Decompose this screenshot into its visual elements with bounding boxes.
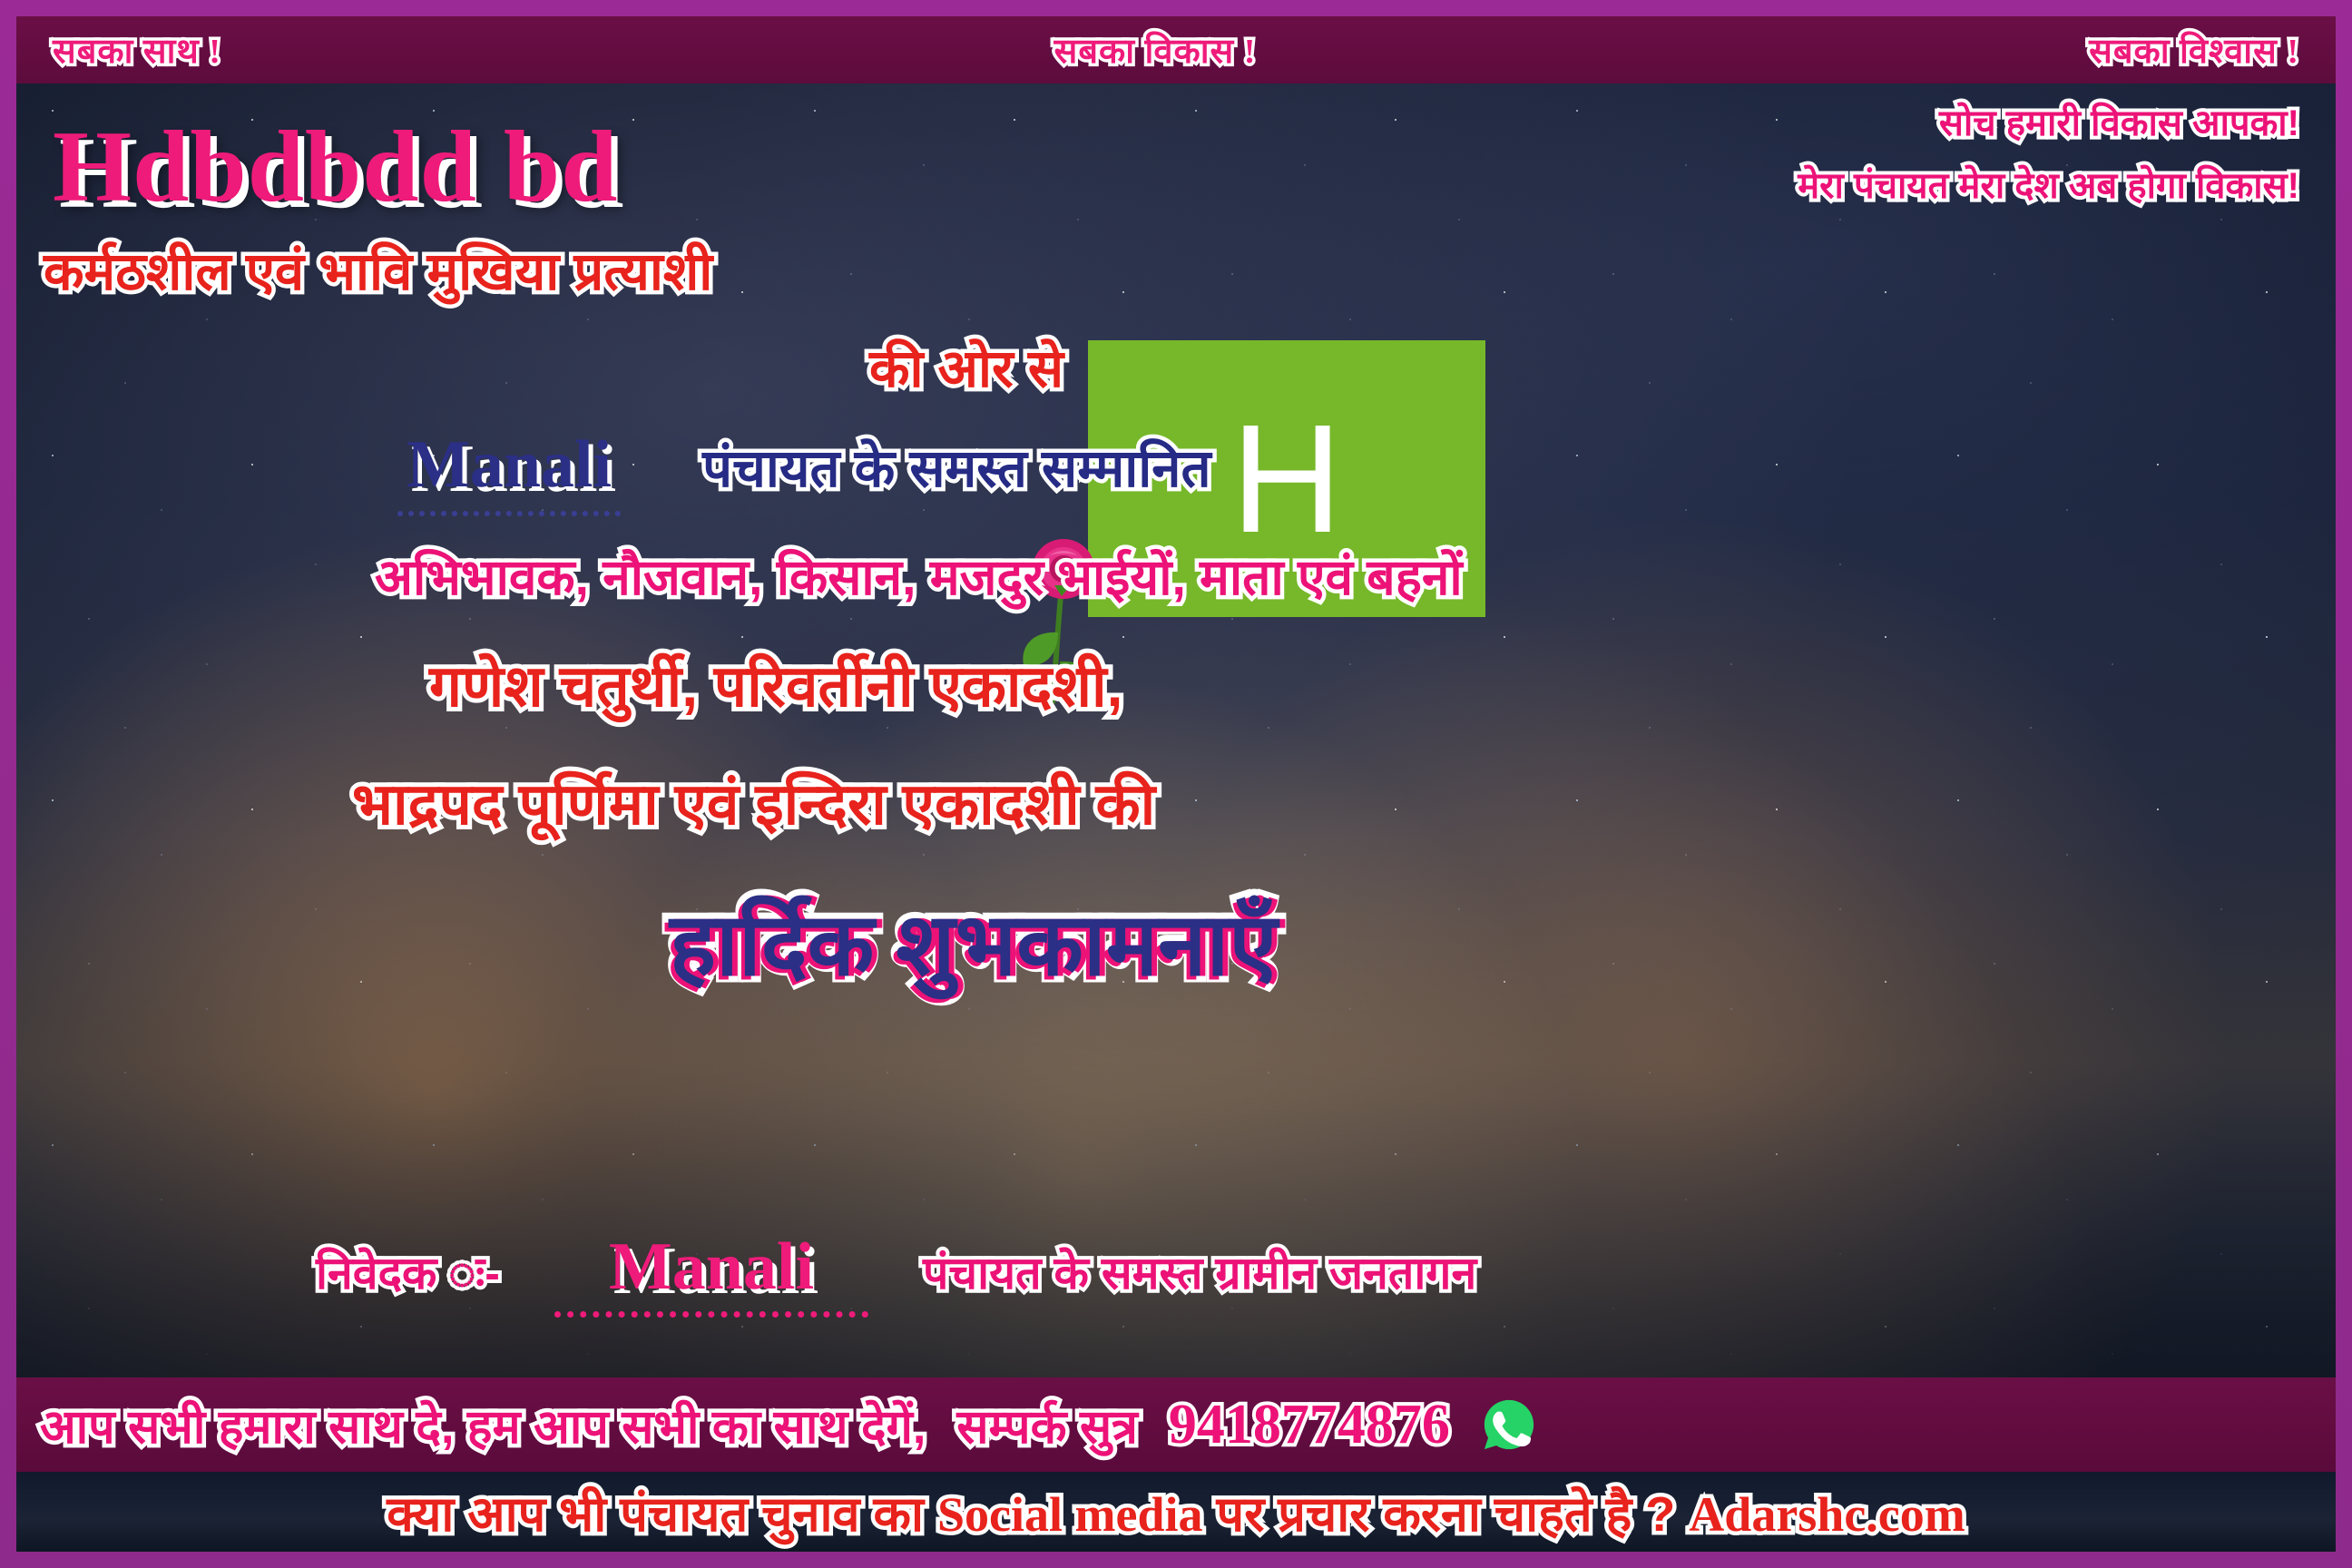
top-slogan-bar: सबका साथ ! सबका विकास ! सबका विश्वास ! <box>16 16 2336 83</box>
requester-row: निवेदक ः- Manali पंचायत के समस्त ग्रामीन… <box>316 1229 1476 1318</box>
top-slogans: सबका साथ ! सबका विकास ! सबका विश्वास ! <box>16 16 2336 83</box>
footer-contact-row: आप सभी हमारा साथ दे, हम आप सभी का साथ दे… <box>16 1377 2336 1472</box>
slogan-sabka-saath: सबका साथ ! <box>53 26 221 73</box>
panchayat-name-row: Manali पंचायत के समस्त सम्मानित <box>397 426 1211 516</box>
footer-phone-number[interactable]: 9418774876 <box>1169 1393 1450 1457</box>
requester-label: निवेदक ः- <box>316 1240 500 1302</box>
festival-line-2: भाद्रपद पूर्णिमा एवं इन्दिरा एकादशी की <box>352 762 1155 841</box>
addressee-line-1: पंचायत के समस्त सम्मानित <box>702 430 1210 502</box>
footer-promo-bar: क्या आप भी पंचायत चुनाव का Social media … <box>16 1472 2336 1552</box>
panchayat-name-field[interactable]: Manali <box>397 426 621 516</box>
tagline-line-1: सोच हमारी विकास आपका! <box>1798 96 2299 146</box>
footer-contact-bar: आप सभी हमारा साथ दे, हम आप सभी का साथ दे… <box>16 1377 2336 1472</box>
promo-hindi-part-2: पर प्रचार करना चाहते है ? <box>1203 1487 1690 1542</box>
from-label: की ओर से <box>869 330 1063 402</box>
candidate-name-title: Hdbdbdd bd <box>53 109 618 226</box>
slogan-sabka-vishwas: सबका विश्वास ! <box>2089 26 2299 73</box>
poster-content: सोच हमारी विकास आपका! मेरा पंचायत मेरा द… <box>16 83 2336 1481</box>
addressee-line-2: अभिभावक, नौजवान, किसान, मजदुर भाईयों, मा… <box>375 542 1463 610</box>
greeting-poster: सबका साथ ! सबका विकास ! सबका विश्वास ! स… <box>0 0 2352 1568</box>
festival-line-1: गणेश चतुर्थी, परिवर्तीनी एकादशी, <box>429 644 1122 723</box>
greeting-text: हार्दिक शुभकामनाएँ <box>670 882 1277 1001</box>
corner-taglines: सोच हमारी विकास आपका! मेरा पंचायत मेरा द… <box>1798 96 2299 209</box>
promo-hindi-part-1: क्या आप भी पंचायत चुनाव का <box>387 1487 937 1542</box>
footer-promo-text: क्या आप भी पंचायत चुनाव का Social media … <box>387 1478 1965 1545</box>
promo-website[interactable]: Adarshc.com <box>1689 1487 1965 1542</box>
footer-contact-label: सम्पर्क सुत्र <box>956 1393 1138 1457</box>
candidate-designation: कर्मठशील एवं भावि मुखिया प्रत्याशी <box>44 233 712 305</box>
slogan-sabka-vikas: सबका विकास ! <box>1054 26 1257 73</box>
requester-name-field[interactable]: Manali <box>554 1229 868 1318</box>
promo-english-part: Social media <box>937 1487 1203 1542</box>
tagline-line-2: मेरा पंचायत मेरा देश अब होगा विकास! <box>1798 159 2299 209</box>
footer-support-text: आप सभी हमारा साथ दे, हम आप सभी का साथ दे… <box>40 1393 926 1457</box>
whatsapp-icon[interactable] <box>1481 1396 1537 1453</box>
requester-tail-text: पंचायत के समस्त ग्रामीन जनतागन <box>923 1240 1476 1302</box>
